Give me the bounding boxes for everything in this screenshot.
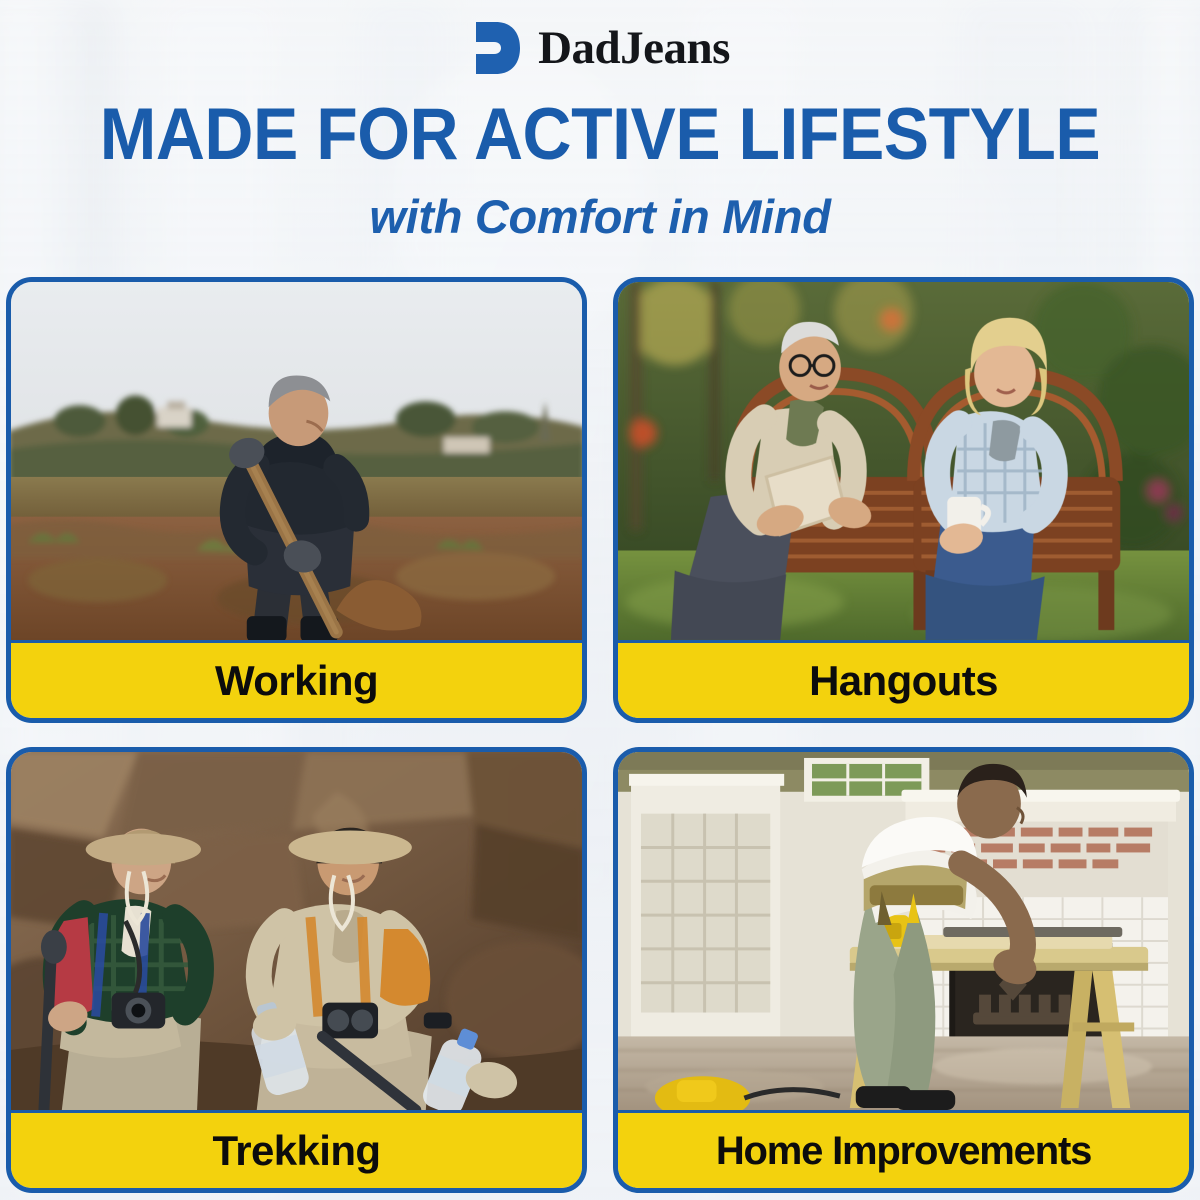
photo-working (11, 282, 582, 640)
category-grid: Working (6, 277, 1194, 1193)
card-label-home-improvements: Home Improvements (618, 1110, 1189, 1188)
card-label-working: Working (11, 640, 582, 718)
category-card-hangouts[interactable]: Hangouts (613, 277, 1194, 723)
brand-lockup: DadJeans (0, 0, 1200, 78)
category-card-working[interactable]: Working (6, 277, 587, 723)
category-card-trekking[interactable]: Trekking (6, 747, 587, 1193)
photo-trekking (11, 752, 582, 1110)
promo-poster: DadJeans MADE FOR ACTIVE LIFESTYLE with … (0, 0, 1200, 1200)
card-label-text: Trekking (213, 1130, 381, 1172)
brand-name: DadJeans (538, 25, 730, 72)
card-label-hangouts: Hangouts (618, 640, 1189, 718)
photo-hangouts (618, 282, 1189, 640)
category-card-home-improvements[interactable]: Home Improvements (613, 747, 1194, 1193)
card-label-text: Working (215, 660, 378, 702)
page-subtitle: with Comfort in Mind (0, 193, 1200, 240)
page-title: MADE FOR ACTIVE LIFESTYLE (42, 98, 1158, 171)
card-label-text: Home Improvements (716, 1131, 1091, 1171)
card-label-trekking: Trekking (11, 1110, 582, 1188)
card-label-text: Hangouts (809, 660, 998, 702)
dadjeans-logo-icon (470, 20, 522, 76)
photo-home-improvements (618, 752, 1189, 1110)
